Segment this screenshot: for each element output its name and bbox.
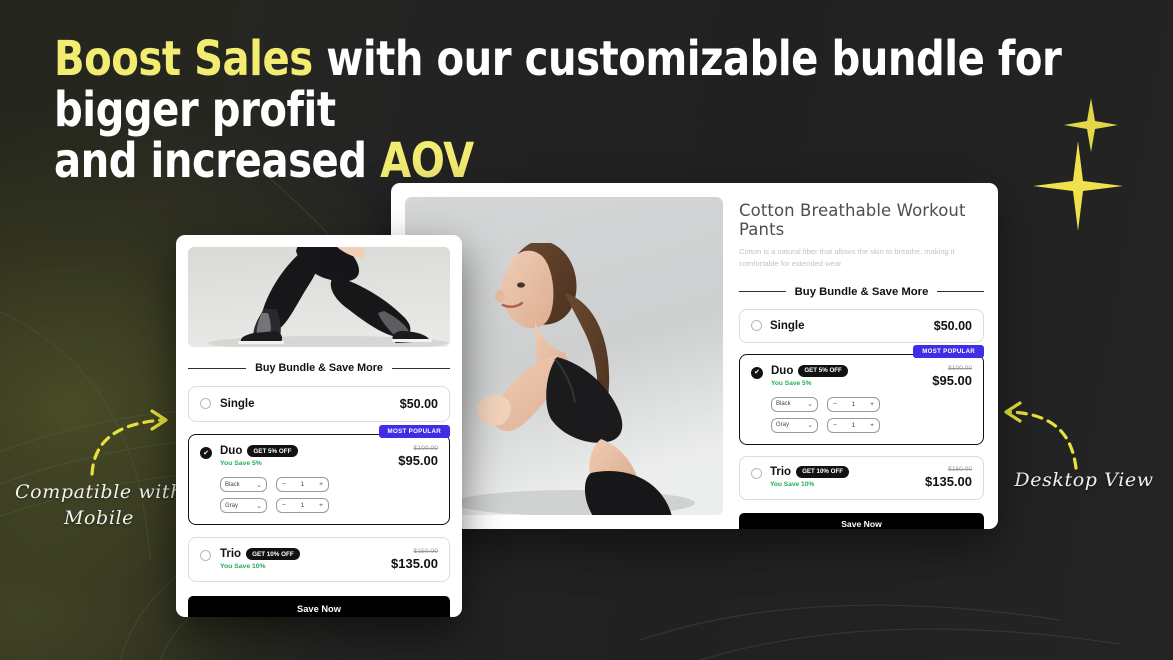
mobile-color-select-1[interactable]: Black ⌄ [220, 477, 267, 492]
radio-trio[interactable]: ✔ [200, 550, 211, 561]
desktop-color-select-2[interactable]: Gray ⌄ [771, 418, 818, 433]
mobile-most-popular-badge: MOST POPULAR [379, 425, 450, 438]
price-new: $50.00 [934, 319, 972, 333]
price-old: $150.00 [391, 548, 438, 555]
price-old: $100.00 [932, 365, 972, 372]
headline-rest-2: and increased [54, 133, 380, 189]
radio-duo[interactable]: ✔ [751, 367, 763, 379]
chevron-down-icon: ⌄ [807, 400, 813, 408]
decrement-button[interactable]: − [833, 401, 837, 408]
chevron-down-icon: ⌄ [256, 481, 262, 489]
price-new: $95.00 [398, 453, 438, 468]
price-new: $135.00 [925, 474, 972, 489]
desktop-variant-row-2: Gray ⌄ − 1 + [751, 418, 972, 433]
increment-button[interactable]: + [319, 502, 323, 509]
price-new: $135.00 [391, 556, 438, 571]
desktop-qty-value-1: 1 [852, 401, 856, 408]
radio-single[interactable]: ✔ [751, 320, 762, 331]
chevron-down-icon: ⌄ [256, 502, 262, 510]
annotation-mobile-line1: Compatible with [6, 480, 192, 506]
desktop-qty-value-2: 1 [852, 422, 856, 429]
arrow-to-desktop [998, 392, 1090, 474]
mobile-qty-value-1: 1 [301, 481, 305, 488]
mobile-option-single-name: Single [220, 398, 255, 410]
increment-button[interactable]: + [870, 401, 874, 408]
mobile-product-photo [188, 247, 450, 347]
mobile-option-duo-badge: GET 5% OFF [247, 445, 297, 457]
mobile-bundle-heading-label: Buy Bundle & Save More [255, 362, 383, 374]
promo-banner: Boost Sales with our customizable bundle… [0, 0, 1173, 660]
radio-single[interactable]: ✔ [200, 398, 211, 409]
desktop-option-duo-name: Duo [771, 365, 793, 377]
desktop-color-select-1[interactable]: Black ⌄ [771, 397, 818, 412]
decrement-button[interactable]: − [282, 502, 286, 509]
desktop-product-panel: Cotton Breathable Workout Pants Cotton i… [739, 197, 984, 515]
desktop-color-select-1-value: Black [776, 401, 791, 407]
desktop-bundle-heading-label: Buy Bundle & Save More [795, 286, 929, 298]
annotation-compatible-with-mobile: Compatible with Mobile [6, 480, 192, 531]
headline-highlight-2: AOV [380, 133, 474, 189]
desktop-option-duo-price: $100.00 $95.00 [932, 365, 972, 388]
mobile-color-select-2-value: Gray [225, 503, 238, 509]
mobile-option-trio-save-note: You Save 10% [220, 563, 300, 570]
mobile-qty-stepper-2[interactable]: − 1 + [276, 498, 329, 513]
mobile-variant-row-2: Gray ⌄ − 1 + [200, 498, 438, 513]
rule-right [937, 291, 984, 292]
desktop-option-duo-save-note: You Save 5% [771, 380, 848, 387]
mobile-view-preview-card: Buy Bundle & Save More ✔ Single $50.00 M… [176, 235, 462, 617]
headline-highlight-1: Boost Sales [54, 31, 313, 87]
arrow-to-mobile [78, 400, 178, 480]
price-new: $50.00 [400, 397, 438, 411]
rule-right [392, 368, 450, 369]
mobile-option-duo[interactable]: MOST POPULAR ✔ Duo GET 5% OFF You Save 5… [188, 434, 450, 525]
mobile-color-select-1-value: Black [225, 482, 240, 488]
desktop-qty-stepper-2[interactable]: − 1 + [827, 418, 880, 433]
mobile-qty-value-2: 1 [301, 502, 305, 509]
desktop-product-description: Cotton is a natural fiber that allows th… [739, 246, 984, 270]
mobile-bundle-heading: Buy Bundle & Save More [188, 362, 450, 374]
price-old: $100.00 [398, 445, 438, 452]
desktop-most-popular-badge: MOST POPULAR [913, 345, 984, 358]
price-new: $95.00 [932, 373, 972, 388]
annotation-mobile-line2: Mobile [6, 506, 192, 532]
rule-left [188, 368, 246, 369]
mobile-option-trio-price: $150.00 $135.00 [391, 548, 438, 571]
desktop-option-duo-badge: GET 5% OFF [798, 365, 847, 377]
mobile-color-select-2[interactable]: Gray ⌄ [220, 498, 267, 513]
desktop-qty-stepper-1[interactable]: − 1 + [827, 397, 880, 412]
mobile-qty-stepper-1[interactable]: − 1 + [276, 477, 329, 492]
increment-button[interactable]: + [319, 481, 323, 488]
desktop-option-trio[interactable]: ✔ Trio GET 10% OFF You Save 10% $150.00 … [739, 456, 984, 500]
mobile-option-trio-badge: GET 10% OFF [246, 548, 300, 560]
desktop-option-trio-name: Trio [770, 466, 791, 478]
page-title: Boost Sales with our customizable bundle… [54, 34, 1082, 187]
desktop-product-title: Cotton Breathable Workout Pants [739, 201, 984, 239]
mobile-option-trio[interactable]: ✔ Trio GET 10% OFF You Save 10% $150.00 … [188, 537, 450, 582]
price-old: $150.00 [925, 466, 972, 473]
mobile-option-single[interactable]: ✔ Single $50.00 [188, 386, 450, 422]
chevron-down-icon: ⌄ [807, 421, 813, 429]
decrement-button[interactable]: − [282, 481, 286, 488]
rule-left [739, 291, 786, 292]
desktop-bundle-heading: Buy Bundle & Save More [739, 286, 984, 298]
mobile-save-now-button[interactable]: Save Now [188, 596, 450, 617]
mobile-option-single-price: $50.00 [400, 397, 438, 411]
desktop-option-single[interactable]: ✔ Single $50.00 [739, 309, 984, 343]
desktop-option-trio-save-note: You Save 10% [770, 481, 849, 488]
desktop-variant-row-1: Black ⌄ − 1 + [751, 397, 972, 412]
radio-duo[interactable]: ✔ [200, 447, 212, 459]
desktop-color-select-2-value: Gray [776, 422, 789, 428]
desktop-option-single-price: $50.00 [934, 319, 972, 333]
desktop-save-now-button[interactable]: Save Now [739, 513, 984, 529]
mobile-option-trio-name: Trio [220, 548, 241, 560]
desktop-view-preview-card: Cotton Breathable Workout Pants Cotton i… [391, 183, 998, 529]
desktop-option-trio-badge: GET 10% OFF [796, 466, 849, 478]
mobile-option-duo-name: Duo [220, 445, 242, 457]
decrement-button[interactable]: − [833, 422, 837, 429]
desktop-option-duo[interactable]: MOST POPULAR ✔ Duo GET 5% OFF You Save 5… [739, 354, 984, 445]
desktop-option-single-name: Single [770, 320, 805, 332]
desktop-option-trio-price: $150.00 $135.00 [925, 466, 972, 489]
mobile-option-duo-price: $100.00 $95.00 [398, 445, 438, 468]
increment-button[interactable]: + [870, 422, 874, 429]
mobile-variant-row-1: Black ⌄ − 1 + [200, 477, 438, 492]
annotation-desktop-view: Desktop View [1004, 468, 1164, 494]
radio-trio[interactable]: ✔ [751, 468, 762, 479]
mobile-option-duo-save-note: You Save 5% [220, 460, 298, 467]
